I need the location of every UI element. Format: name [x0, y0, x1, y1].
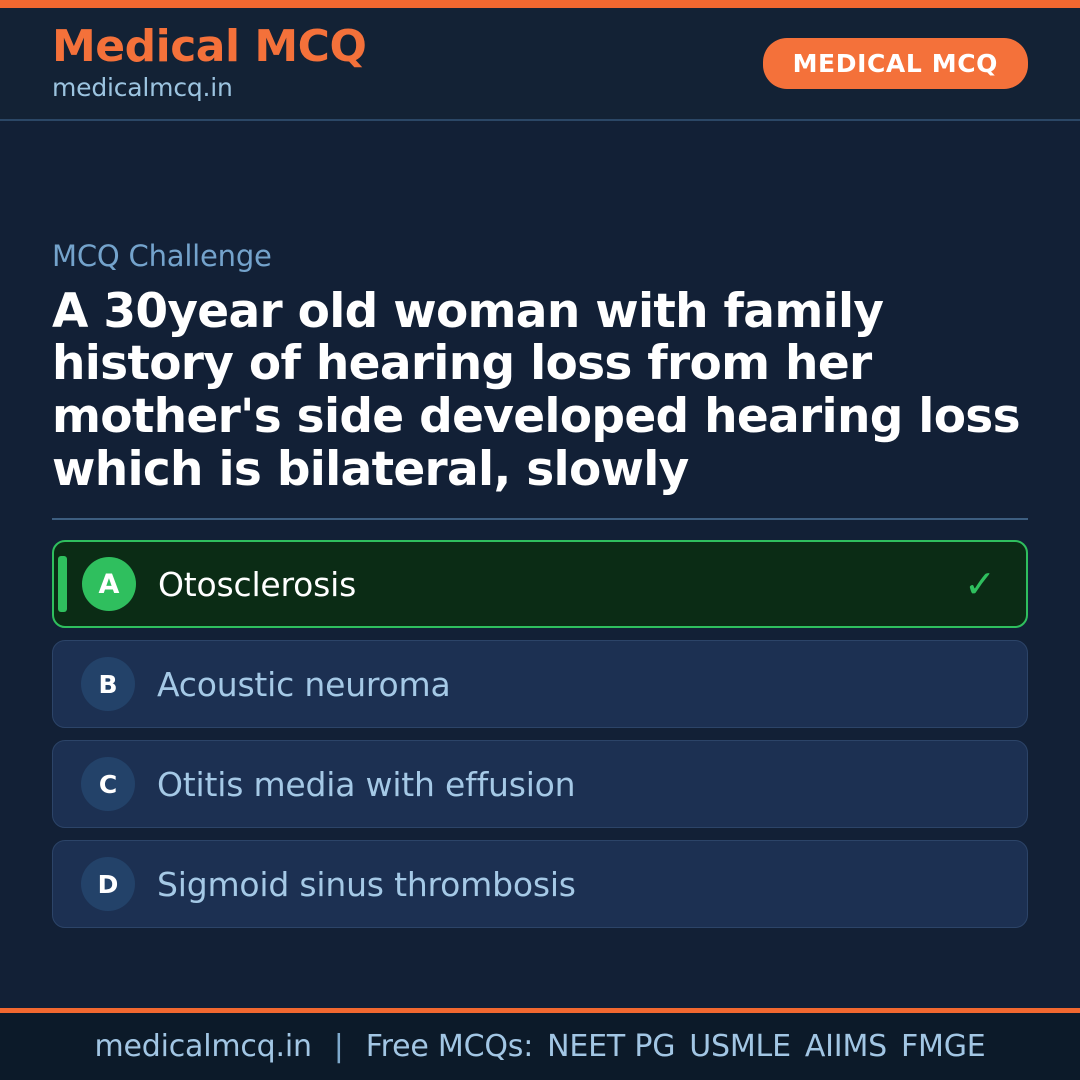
header-badge: MEDICAL MCQ [763, 38, 1028, 90]
footer-exam-neetpg: NEET PG [547, 1032, 675, 1062]
check-icon: ✓ [964, 565, 996, 603]
question-text: A 30year old woman with family history o… [52, 286, 1022, 497]
footer-exam-usmle: USMLE [689, 1032, 791, 1062]
option-label: Otosclerosis [158, 565, 948, 605]
brand-website: medicalmcq.in [52, 73, 366, 103]
option-row-b[interactable]: B Acoustic neuroma [52, 640, 1028, 728]
option-label: Otitis media with effusion [157, 765, 981, 805]
option-letter-badge: A [82, 557, 136, 611]
options-list: A Otosclerosis ✓ B Acoustic neuroma C Ot… [52, 540, 1028, 928]
mcq-card: Medical MCQ medicalmcq.in MEDICAL MCQ MC… [0, 0, 1080, 1080]
correct-accent-bar [58, 556, 67, 612]
option-letter-badge: C [81, 757, 135, 811]
footer-text: medicalmcq.in | Free MCQs: NEET PG USMLE… [94, 1032, 985, 1062]
option-label: Sigmoid sinus thrombosis [157, 865, 981, 905]
brand-block: Medical MCQ medicalmcq.in [52, 24, 366, 102]
header: Medical MCQ medicalmcq.in MEDICAL MCQ [0, 8, 1080, 121]
option-row-a[interactable]: A Otosclerosis ✓ [52, 540, 1028, 628]
option-row-c[interactable]: C Otitis media with effusion [52, 740, 1028, 828]
footer-exam-aiims: AIIMS [805, 1032, 887, 1062]
kicker-label: MCQ Challenge [52, 239, 1028, 274]
option-row-d[interactable]: D Sigmoid sinus thrombosis [52, 840, 1028, 928]
footer-website: medicalmcq.in [94, 1032, 311, 1062]
footer-separator: | [334, 1032, 344, 1062]
footer: medicalmcq.in | Free MCQs: NEET PG USMLE… [0, 1008, 1080, 1080]
option-letter-badge: D [81, 857, 135, 911]
brand-title: Medical MCQ [52, 24, 366, 70]
top-accent-bar [0, 0, 1080, 8]
footer-exam-fmge: FMGE [901, 1032, 986, 1062]
question-divider [52, 518, 1028, 520]
footer-label: Free MCQs: [366, 1032, 533, 1062]
option-label: Acoustic neuroma [157, 665, 981, 705]
option-letter-badge: B [81, 657, 135, 711]
main-content: MCQ Challenge A 30year old woman with fa… [0, 121, 1080, 1008]
